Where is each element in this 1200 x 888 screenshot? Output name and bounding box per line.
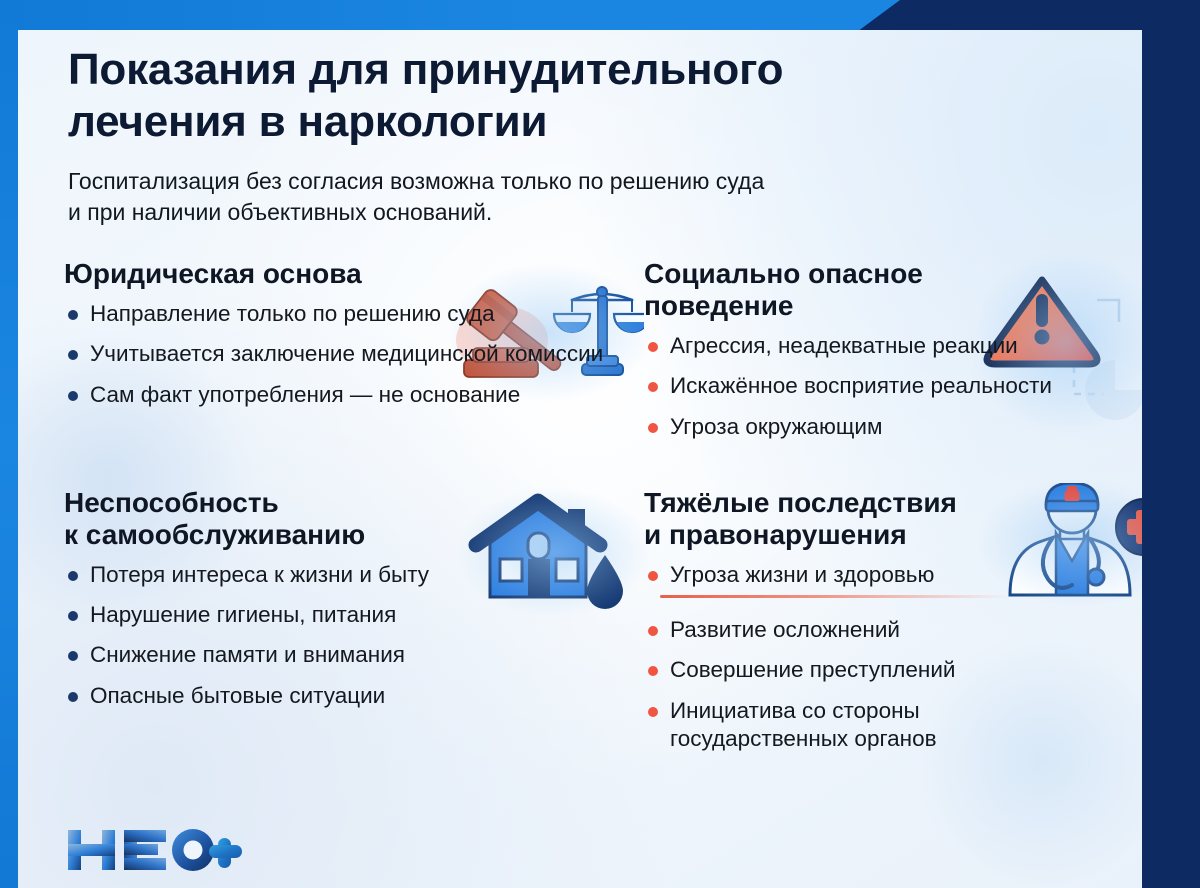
list-item: Инициатива со стороны государственных ор… [644, 697, 1094, 754]
bullet-text: Потеря интереса к жизни и быту [90, 562, 429, 587]
list-item: Учитывается заключение медицинской комис… [64, 340, 644, 368]
right-frame-bar [1142, 0, 1200, 888]
list-item: Развитие осложнений [644, 616, 1094, 644]
heading-line1: Тяжёлые последствия [644, 487, 957, 518]
page-title: Показания для принудительного лечения в … [68, 44, 1078, 148]
page-subtitle-line2: и при наличии объективных оснований. [68, 199, 492, 225]
page-subtitle: Госпитализация без согласия возможна тол… [68, 166, 1078, 228]
bullet-text: Учитывается заключение медицинской комис… [90, 341, 603, 366]
section-heading-self-care-inability: Неспособность к самообслуживанию [64, 487, 644, 551]
list-item: Сам факт употребления — не основание [64, 381, 644, 409]
brand-logo [66, 822, 244, 878]
neo-plus-logo-icon [66, 822, 244, 878]
list-item: Потеря интереса к жизни и быту [64, 561, 644, 589]
bullet-list-self-care-inability: Потеря интереса к жизни и быту Нарушение… [64, 561, 644, 710]
sections-row-bottom: Неспособность к самообслуживанию Потеря … [64, 487, 1094, 766]
heading-line2: поведение [644, 290, 793, 321]
top-frame-blue-accent [0, 0, 900, 30]
bullet-text: Опасные бытовые ситуации [90, 683, 385, 708]
section-legal-basis: Юридическая основа Направление только по… [64, 258, 644, 453]
bullet-text: Угроза окружающим [670, 414, 882, 439]
left-frame-bar [0, 0, 18, 888]
bullet-text: Агрессия, неадекватные реакции [670, 333, 1018, 358]
bullet-list-legal-basis: Направление только по решению суда Учиты… [64, 300, 644, 409]
sections-grid: Юридическая основа Направление только по… [64, 258, 1094, 765]
bullet-text: Инициатива со стороны государственных ор… [670, 698, 937, 751]
list-item: Угроза окружающим [644, 413, 1094, 441]
section-severe-consequences: Тяжёлые последствия и правонарушения Угр… [644, 487, 1094, 766]
top-frame-bar [0, 0, 1200, 30]
section-self-care-inability: Неспособность к самообслуживанию Потеря … [64, 487, 644, 766]
list-item: Совершение преступлений [644, 656, 1094, 684]
page-title-line1: Показания для принудительного [68, 45, 783, 94]
section-divider [660, 595, 1010, 598]
heading-line2: и правонарушения [644, 519, 907, 550]
section-heading-severe-consequences: Тяжёлые последствия и правонарушения [644, 487, 1094, 551]
heading-line1: Юридическая основа [64, 258, 362, 289]
bullet-text: Угроза жизни и здоровью [670, 562, 934, 587]
list-item: Направление только по решению суда [64, 300, 644, 328]
heading-line1: Неспособность [64, 487, 279, 518]
bullet-list-severe-consequences-primary: Угроза жизни и здоровью [644, 561, 1094, 589]
heading-line2: к самообслуживанию [64, 519, 365, 550]
bullet-text: Совершение преступлений [670, 657, 955, 682]
section-dangerous-behavior: Социально опасное поведение Агрессия, не… [644, 258, 1094, 453]
heading-line1: Социально опасное [644, 258, 923, 289]
bullet-text: Развитие осложнений [670, 617, 900, 642]
poster-canvas: Показания для принудительного лечения в … [18, 30, 1142, 888]
list-item: Опасные бытовые ситуации [64, 682, 644, 710]
infographic-poster: Показания для принудительного лечения в … [0, 0, 1200, 888]
bullet-text: Направление только по решению суда [90, 301, 495, 326]
bullet-list-severe-consequences: Развитие осложнений Совершение преступле… [644, 616, 1094, 753]
bullet-text: Искажённое восприятие реальности [670, 373, 1052, 398]
section-heading-dangerous-behavior: Социально опасное поведение [644, 258, 1094, 322]
page-title-line2: лечения в наркологии [68, 97, 547, 146]
bullet-text: Снижение памяти и внимания [90, 642, 405, 667]
bullet-list-dangerous-behavior: Агрессия, неадекватные реакции Искажённо… [644, 332, 1094, 441]
page-subtitle-line1: Госпитализация без согласия возможна тол… [68, 168, 764, 194]
section-heading-legal-basis: Юридическая основа [64, 258, 644, 290]
poster-header: Показания для принудительного лечения в … [68, 44, 1078, 227]
list-item: Искажённое восприятие реальности [644, 372, 1094, 400]
sections-row-top: Юридическая основа Направление только по… [64, 258, 1094, 453]
bullet-text: Сам факт употребления — не основание [90, 382, 520, 407]
bullet-text: Нарушение гигиены, питания [90, 602, 396, 627]
list-item: Снижение памяти и внимания [64, 641, 644, 669]
list-item: Угроза жизни и здоровью [644, 561, 1094, 589]
list-item: Нарушение гигиены, питания [64, 601, 644, 629]
list-item: Агрессия, неадекватные реакции [644, 332, 1094, 360]
